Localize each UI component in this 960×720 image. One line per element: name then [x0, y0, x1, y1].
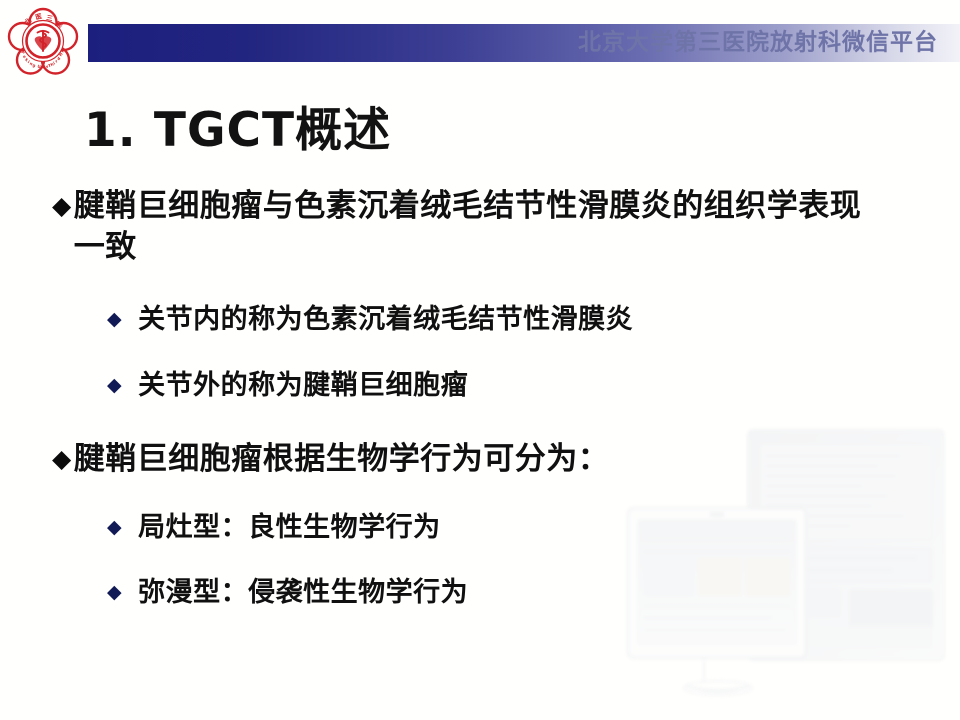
hospital-logo-icon: 北 医 三 院 P e k i n g U n i v T h i r	[6, 5, 80, 77]
bullet-text: 腱鞘巨细胞瘤根据生物学行为可分为：	[74, 439, 864, 480]
bullet-item-1: ◆ 腱鞘巨细胞瘤与色素沉着绒毛结节性滑膜炎的组织学表现一致	[52, 186, 872, 268]
spacer	[52, 268, 872, 302]
bullet-text: 局灶型：良性生物学行为	[138, 510, 441, 545]
header-banner: 北京大学第三医院放射科微信平台	[88, 24, 960, 62]
diamond-bullet-icon: ◆	[107, 302, 122, 337]
spacer	[52, 403, 872, 439]
spacer	[52, 480, 872, 510]
diamond-bullet-icon: ◆	[52, 439, 72, 480]
spacer	[52, 338, 872, 368]
diamond-bullet-icon: ◆	[107, 368, 122, 403]
bullet-item-5: ◆ 局灶型：良性生物学行为	[107, 510, 872, 545]
diamond-bullet-icon: ◆	[107, 510, 122, 545]
bullet-text: 关节内的称为色素沉着绒毛结节性滑膜炎	[138, 302, 633, 337]
bullet-item-3: ◆ 关节外的称为腱鞘巨细胞瘤	[107, 368, 872, 403]
bullet-item-4: ◆ 腱鞘巨细胞瘤根据生物学行为可分为：	[52, 439, 872, 480]
diamond-bullet-icon: ◆	[107, 575, 122, 610]
spacer	[52, 545, 872, 575]
svg-text:1958: 1958	[38, 56, 49, 60]
slide-body: ◆ 腱鞘巨细胞瘤与色素沉着绒毛结节性滑膜炎的组织学表现一致 ◆ 关节内的称为色素…	[52, 186, 872, 610]
svg-text:医: 医	[35, 12, 44, 21]
diamond-bullet-icon: ◆	[52, 186, 72, 227]
platform-title: 北京大学第三医院放射科微信平台	[578, 32, 938, 55]
bullet-text: 弥漫型：侵袭性生物学行为	[138, 575, 468, 610]
bullet-item-6: ◆ 弥漫型：侵袭性生物学行为	[107, 575, 872, 610]
page-title: 1. TGCT概述	[84, 105, 391, 157]
svg-text:g: g	[32, 62, 37, 68]
bullet-text: 关节外的称为腱鞘巨细胞瘤	[138, 368, 468, 403]
presentation-slide: 北 医 三 院 P e k i n g U n i v T h i r	[0, 0, 960, 720]
svg-text:三: 三	[46, 14, 55, 23]
bullet-item-2: ◆ 关节内的称为色素沉着绒毛结节性滑膜炎	[107, 302, 872, 337]
bullet-text: 腱鞘巨细胞瘤与色素沉着绒毛结节性滑膜炎的组织学表现一致	[74, 186, 864, 268]
